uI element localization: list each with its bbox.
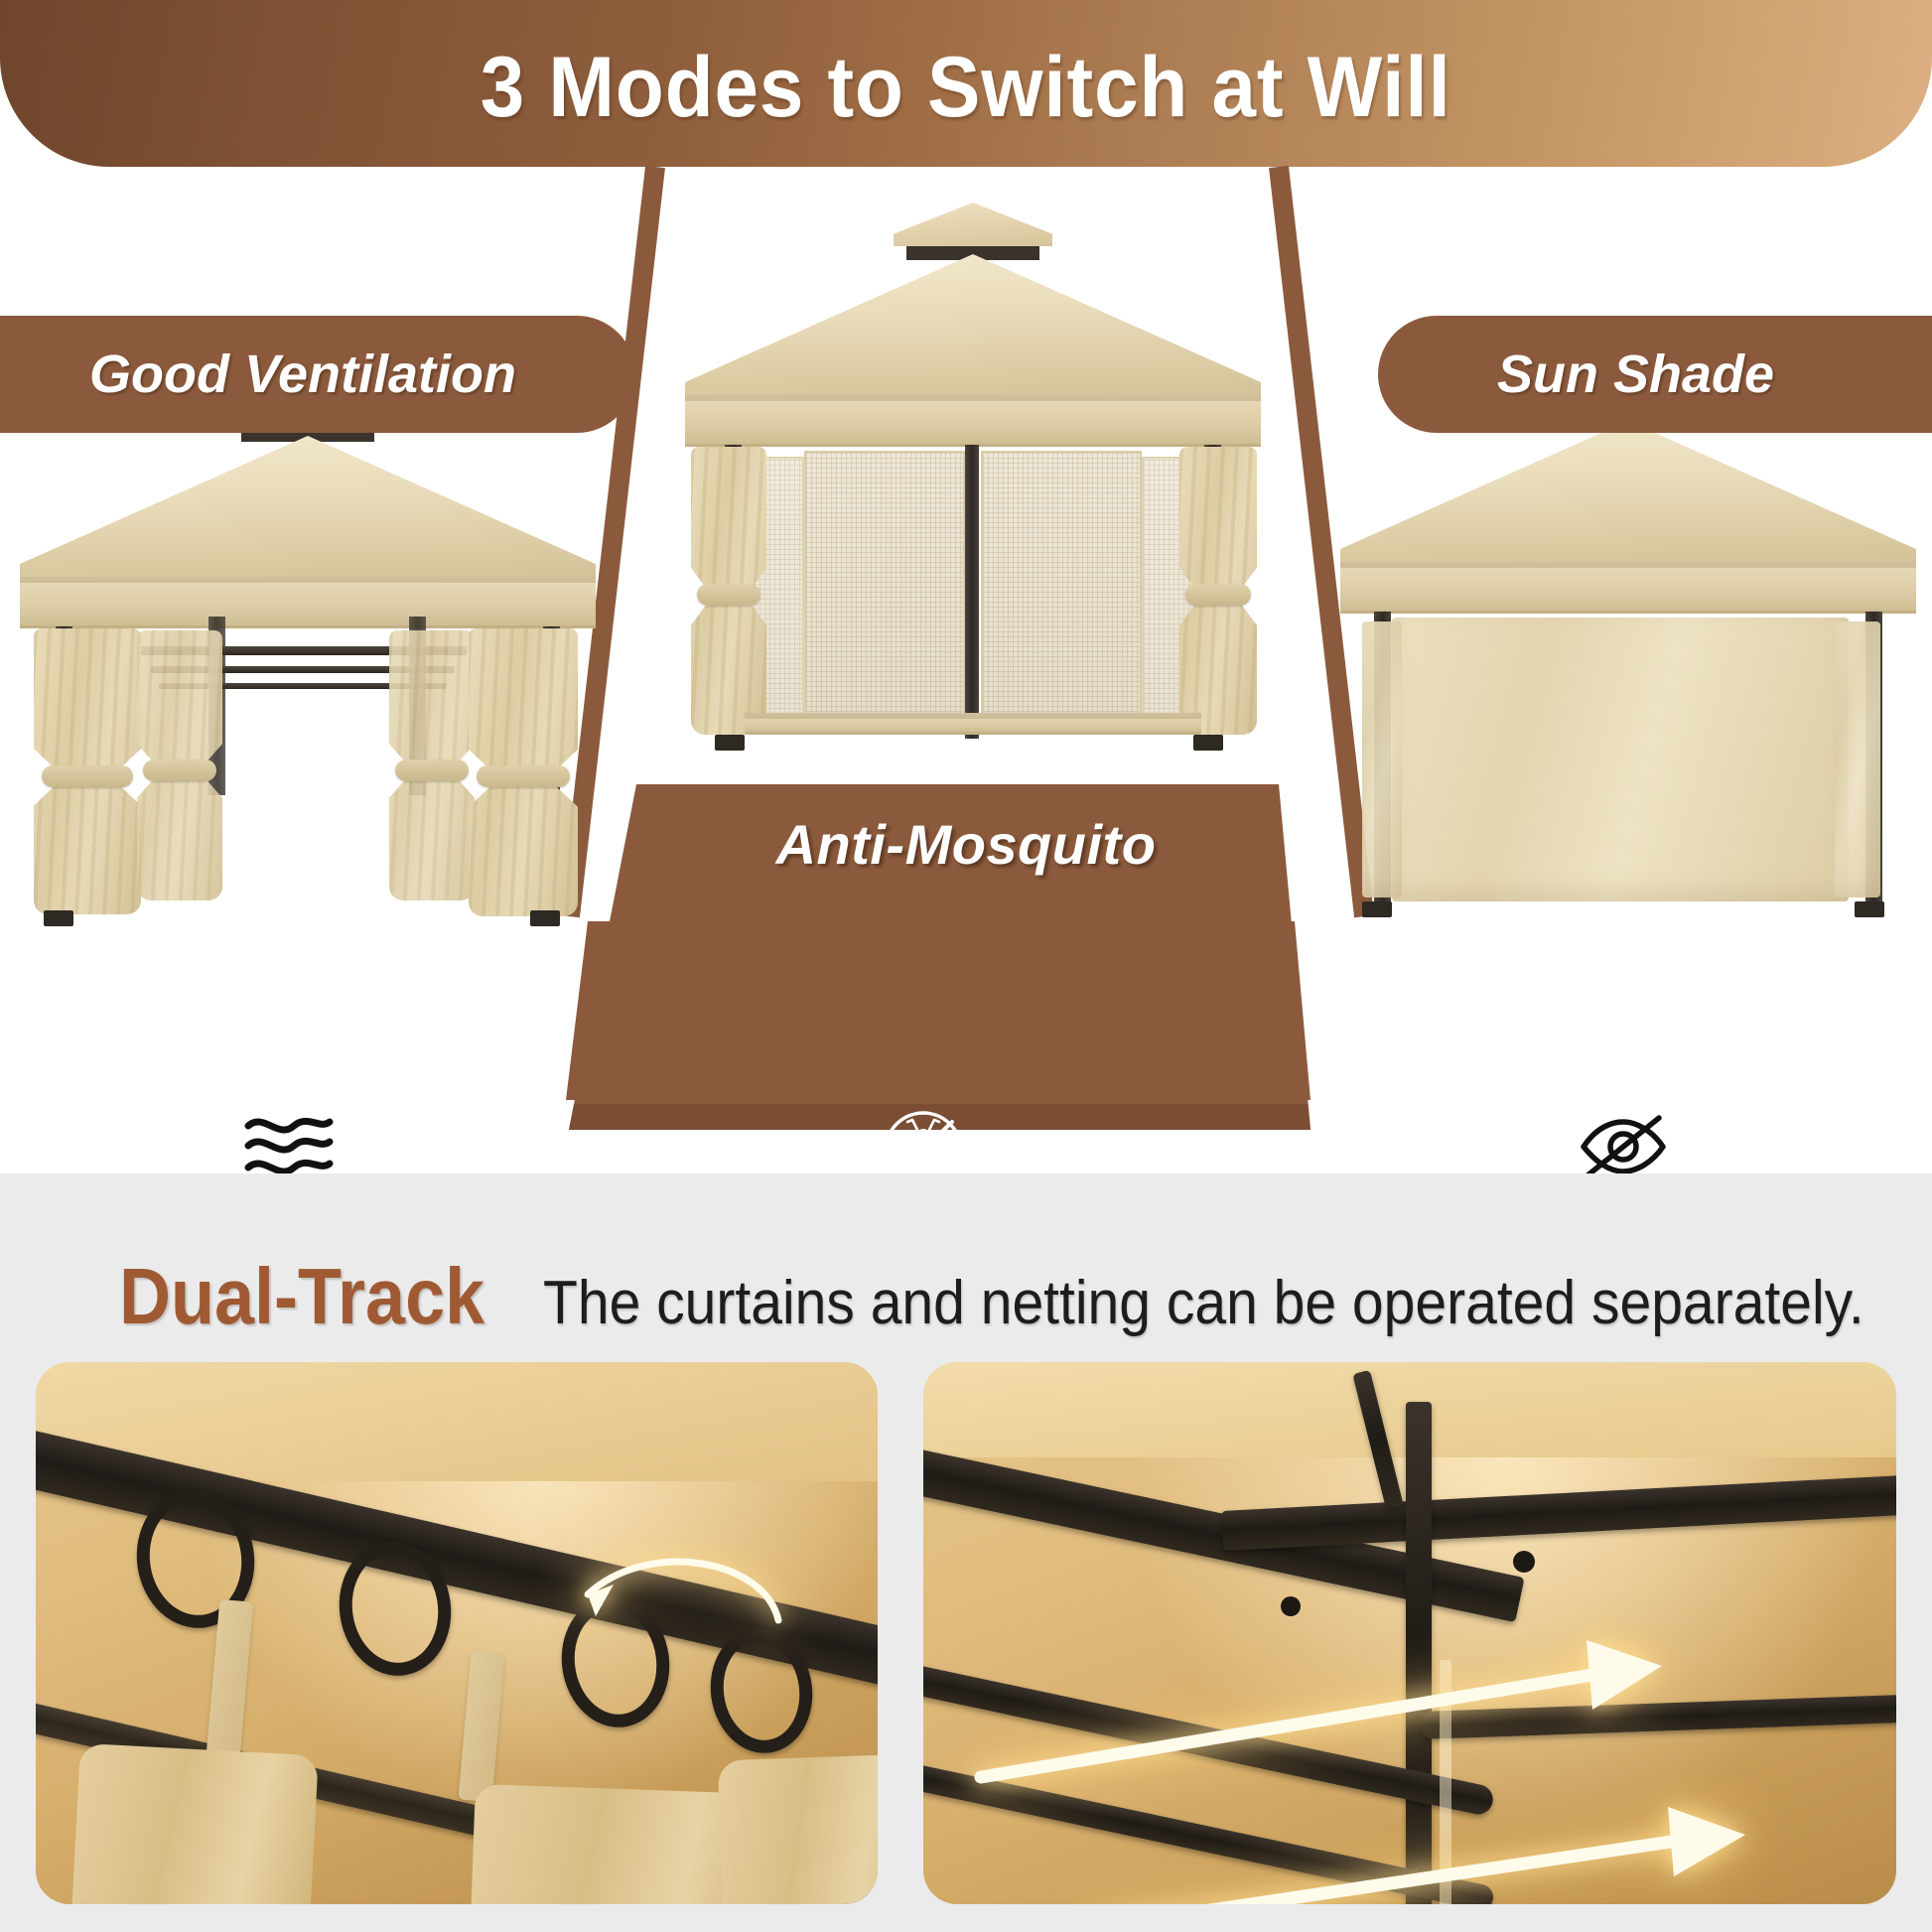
page-title: 3 Modes to Switch at Will (481, 39, 1451, 137)
dual-track-subtitle: The curtains and netting can be operated… (543, 1268, 1864, 1338)
mode-pill-ventilation: Good Ventilation (0, 316, 635, 433)
eye-slash-icon (1572, 1110, 1675, 1183)
photo-curtain-rings (36, 1362, 878, 1904)
wind-waves-icon (238, 1110, 338, 1181)
track-arrow-upper (963, 1618, 1678, 1807)
mode-pill-sun-shade: Sun Shade (1378, 316, 1932, 433)
modes-section: Anti-Mosquito Good Ventilation Sun Shade… (0, 167, 1932, 1173)
mode-label-ventilation: Good Ventilation (89, 344, 516, 405)
gazebo-image-sun-shade (1340, 365, 1916, 921)
gazebo-image-anti-mosquito (685, 197, 1261, 748)
anti-mosquito-banner-lower (0, 921, 1932, 1100)
header-banner: 3 Modes to Switch at Will (0, 0, 1932, 167)
photo-dual-tracks (923, 1362, 1896, 1904)
dual-track-heading: Dual-Track The curtains and netting can … (119, 1251, 1932, 1342)
curved-arrow-annotation (552, 1529, 800, 1658)
gazebo-image-ventilation (20, 380, 596, 921)
infographic-page: 3 Modes to Switch at Will (0, 0, 1932, 1932)
dual-track-section: Dual-Track The curtains and netting can … (0, 1173, 1932, 1932)
track-arrow-lower (1072, 1789, 1767, 1904)
mode-label-sun-shade: Sun Shade (1497, 344, 1774, 405)
dual-track-title: Dual-Track (119, 1251, 484, 1342)
